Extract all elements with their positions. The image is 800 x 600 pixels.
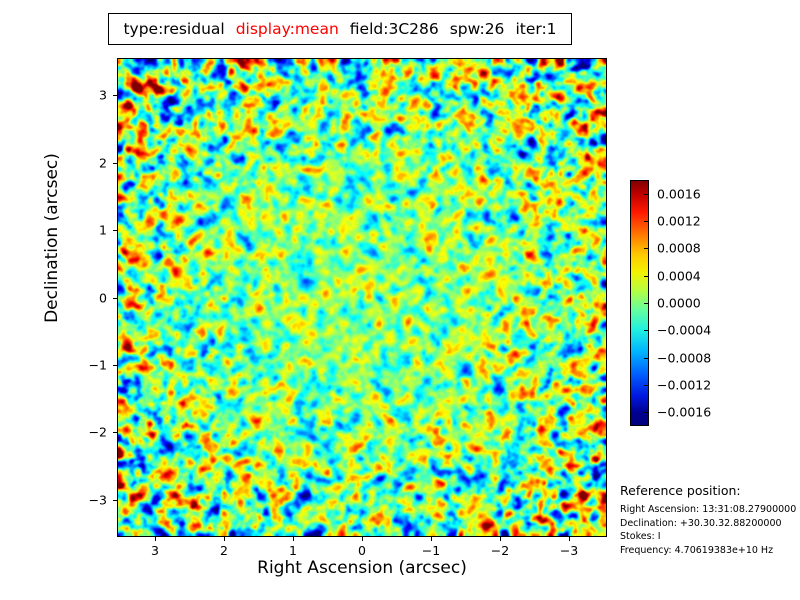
- reference-position-line-3: Frequency: 4.70619383e+10 Hz: [620, 544, 798, 558]
- title-segment-3: spw:26: [450, 20, 505, 38]
- y-tick-label: 1: [75, 223, 107, 238]
- colorbar-tick-label: 0.0008: [657, 241, 701, 256]
- x-tick-label: 0: [358, 543, 366, 558]
- y-tick-label: 3: [75, 88, 107, 103]
- y-tick-mark: [113, 432, 117, 433]
- x-tick-label: 2: [220, 543, 228, 558]
- x-axis-label: Right Ascension (arcsec): [117, 558, 607, 578]
- residual-image-plot[interactable]: [117, 58, 607, 537]
- colorbar-tick-mark: [644, 412, 649, 413]
- x-tick-label: −1: [422, 543, 440, 558]
- y-tick-mark: [113, 95, 117, 96]
- colorbar-tick-mark: [644, 276, 649, 277]
- colorbar-tick-mark: [644, 358, 649, 359]
- image-info-title-bar: type:residualdisplay:meanfield:3C286spw:…: [108, 13, 572, 45]
- x-tick-mark: [500, 537, 501, 541]
- x-tick-mark: [293, 537, 294, 541]
- colorbar-tick-mark: [644, 330, 649, 331]
- y-tick-label: −2: [75, 425, 107, 440]
- reference-position-heading: Reference position:: [620, 483, 798, 498]
- y-tick-mark: [113, 230, 117, 231]
- colorbar-tick-label: 0.0004: [657, 268, 701, 283]
- colorbar-tick-label: −0.0012: [657, 378, 711, 393]
- title-segment-1: display:mean: [236, 20, 339, 38]
- colorbar-tick-label: 0.0000: [657, 296, 701, 311]
- reference-position-lines: Right Ascension: 13:31:08.27900000Declin…: [620, 503, 798, 557]
- reference-position-block: Reference position: Right Ascension: 13:…: [620, 483, 798, 557]
- x-tick-mark: [155, 537, 156, 541]
- x-tick-mark: [224, 537, 225, 541]
- x-tick-mark: [569, 537, 570, 541]
- colorbar-tick-mark: [644, 194, 649, 195]
- x-tick-label: −3: [560, 543, 578, 558]
- x-tick-label: 1: [289, 543, 297, 558]
- y-tick-label: −1: [75, 357, 107, 372]
- title-segment-4: iter:1: [515, 20, 556, 38]
- reference-position-line-0: Right Ascension: 13:31:08.27900000: [620, 503, 798, 517]
- x-tick-mark: [362, 537, 363, 541]
- y-tick-label: 0: [75, 290, 107, 305]
- colorbar-tick-label: 0.0016: [657, 186, 701, 201]
- y-tick-mark: [113, 163, 117, 164]
- colorbar-tick-label: −0.0008: [657, 350, 711, 365]
- reference-position-line-2: Stokes: I: [620, 530, 798, 544]
- colorbar-tick-mark: [644, 303, 649, 304]
- colorbar-tick-mark: [644, 221, 649, 222]
- colorbar-tick-mark: [644, 385, 649, 386]
- title-segment-2: field:3C286: [350, 20, 439, 38]
- colorbar-tick-label: 0.0012: [657, 214, 701, 229]
- x-tick-label: 3: [151, 543, 159, 558]
- y-tick-mark: [113, 500, 117, 501]
- x-tick-label: −2: [491, 543, 509, 558]
- residual-image-canvas[interactable]: [118, 59, 606, 536]
- colorbar-tick-label: −0.0016: [657, 405, 711, 420]
- y-axis-label: Declination (arcsec): [42, 78, 62, 398]
- y-tick-mark: [113, 298, 117, 299]
- y-tick-label: 2: [75, 155, 107, 170]
- reference-position-line-1: Declination: +30.30.32.88200000: [620, 517, 798, 531]
- colorbar-tick-mark: [644, 248, 649, 249]
- y-tick-label: −3: [75, 492, 107, 507]
- y-tick-mark: [113, 365, 117, 366]
- colorbar-tick-label: −0.0004: [657, 323, 711, 338]
- x-tick-mark: [431, 537, 432, 541]
- title-segment-0: type:residual: [123, 20, 224, 38]
